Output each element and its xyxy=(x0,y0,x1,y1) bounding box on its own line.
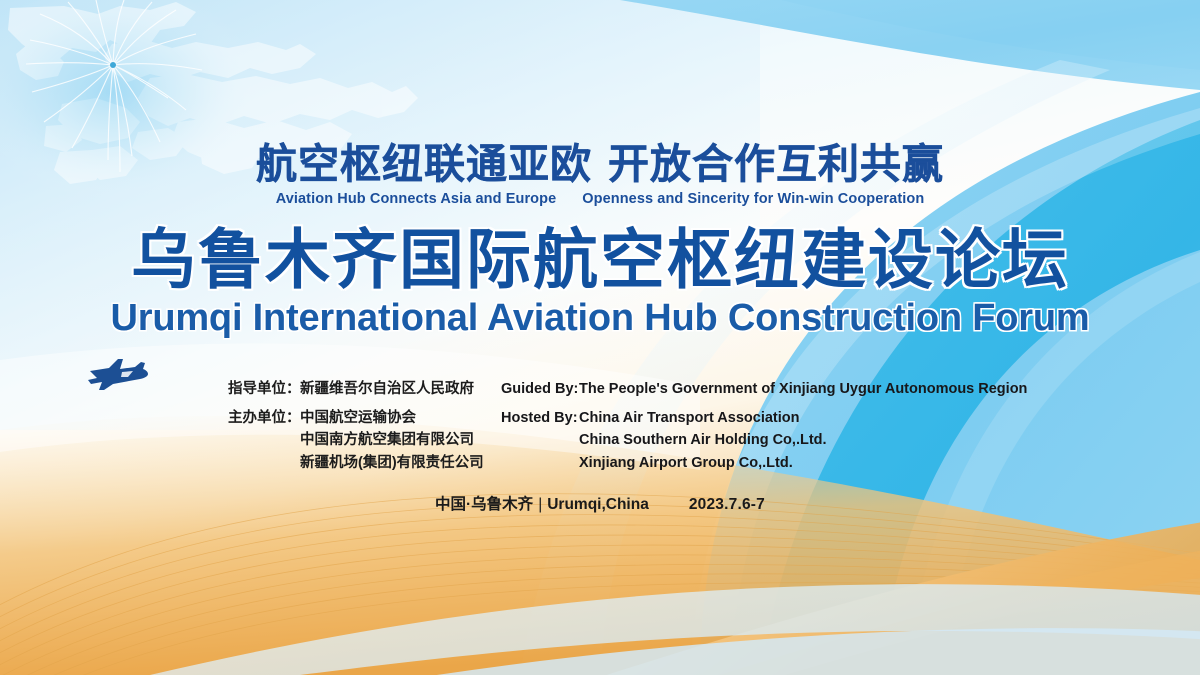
conference-banner: 航空枢纽联通亚欧开放合作互利共赢 Aviation Hub Connects A… xyxy=(0,0,1200,675)
credits-english: Guided By: The People's Government of Xi… xyxy=(501,378,1027,474)
title-english: Urumqi International Aviation Hub Constr… xyxy=(0,297,1200,340)
credits-chinese: 指导单位： 新疆维吾尔自治区人民政府 主办单位： 中国航空运输协会 中国南方航空… xyxy=(228,378,484,474)
tagline-english: Aviation Hub Connects Asia and EuropeOpe… xyxy=(0,191,1200,207)
title-chinese: 乌鲁木齐国际航空枢纽建设论坛 xyxy=(0,226,1200,295)
credits-en-guided-row: Guided By: The People's Government of Xi… xyxy=(501,378,1027,401)
tagline-en-part1: Aviation Hub Connects Asia and Europe xyxy=(276,191,557,207)
credits-en-hosted-value-1: China Southern Air Holding Co,.Ltd. xyxy=(501,429,1027,452)
footer-date: 2023.7.6-7 xyxy=(689,496,765,514)
credits-en-hosted-row: Hosted By: China Air Transport Associati… xyxy=(501,407,1027,430)
tagline-cn-part1: 航空枢纽联通亚欧 xyxy=(256,141,592,187)
credits-cn-hosted-value-0: 中国航空运输协会 xyxy=(300,407,416,430)
credits-en-hosted-value-0: China Air Transport Association xyxy=(579,407,800,430)
credits-cn-hosted-row: 主办单位： 中国航空运输协会 xyxy=(228,407,484,430)
credits-cn-hosted-label: 主办单位： xyxy=(228,407,300,430)
footer-location-cn: 中国·乌鲁木齐 xyxy=(435,496,533,513)
credits-cn-guided-value: 新疆维吾尔自治区人民政府 xyxy=(300,378,474,401)
tagline-chinese: 航空枢纽联通亚欧开放合作互利共赢 xyxy=(0,142,1200,188)
credits-cn-guided-row: 指导单位： 新疆维吾尔自治区人民政府 xyxy=(228,378,484,401)
credits-cn-hosted-value-2: 新疆机场(集团)有限责任公司 xyxy=(228,452,484,475)
credits-en-hosted-value-2: Xinjiang Airport Group Co,.Ltd. xyxy=(501,452,1027,475)
footer-separator: | xyxy=(533,496,547,514)
title-block: 乌鲁木齐国际航空枢纽建设论坛 Urumqi International Avia… xyxy=(0,226,1200,340)
airplane-icon xyxy=(88,355,150,393)
credits-cn-guided-label: 指导单位： xyxy=(228,378,300,401)
footer-location-date: 中国·乌鲁木齐|Urumqi,China2023.7.6-7 xyxy=(0,492,1200,514)
credits-en-hosted-label: Hosted By: xyxy=(501,407,579,430)
tagline-cn-part2: 开放合作互利共赢 xyxy=(608,141,944,187)
credits-cn-hosted-value-1: 中国南方航空集团有限公司 xyxy=(228,429,484,452)
tagline-block: 航空枢纽联通亚欧开放合作互利共赢 Aviation Hub Connects A… xyxy=(0,142,1200,207)
footer-location-en: Urumqi,China xyxy=(547,496,649,513)
tagline-en-part2: Openness and Sincerity for Win-win Coope… xyxy=(582,191,924,207)
credits-en-guided-label: Guided By: xyxy=(501,378,579,401)
credits-en-guided-value: The People's Government of Xinjiang Uygu… xyxy=(579,378,1027,401)
